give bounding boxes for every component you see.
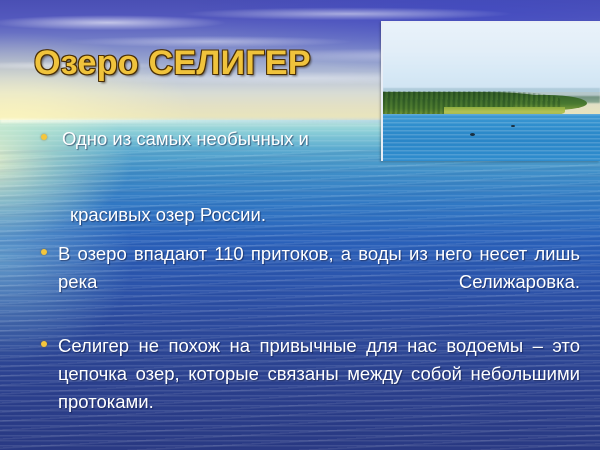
bullet-dot-icon <box>41 134 47 140</box>
bullet-dot-icon <box>41 341 47 347</box>
bullet-text-line-1: Одно из самых необычных и <box>58 120 580 196</box>
presentation-slide: Озеро СЕЛИГЕР Одно из самых необычных и … <box>0 0 600 450</box>
bullet-text: В озеро впадают 110 притоков, а воды из … <box>58 240 580 324</box>
list-item: В озеро впадают 110 притоков, а воды из … <box>28 240 580 324</box>
photo-sky <box>383 23 600 92</box>
list-item: Селигер не похож на привычные для нас во… <box>28 332 580 444</box>
slide-title: Озеро СЕЛИГЕР <box>34 44 311 83</box>
bullet-text: Селигер не похож на привычные для нас во… <box>58 332 580 444</box>
list-item: Одно из самых необычных и красивых озер … <box>28 120 580 234</box>
bullet-list: Одно из самых необычных и красивых озер … <box>28 120 580 450</box>
bullet-dot-icon <box>41 249 47 255</box>
bullet-text-line-2: красивых озер России. <box>58 196 580 234</box>
